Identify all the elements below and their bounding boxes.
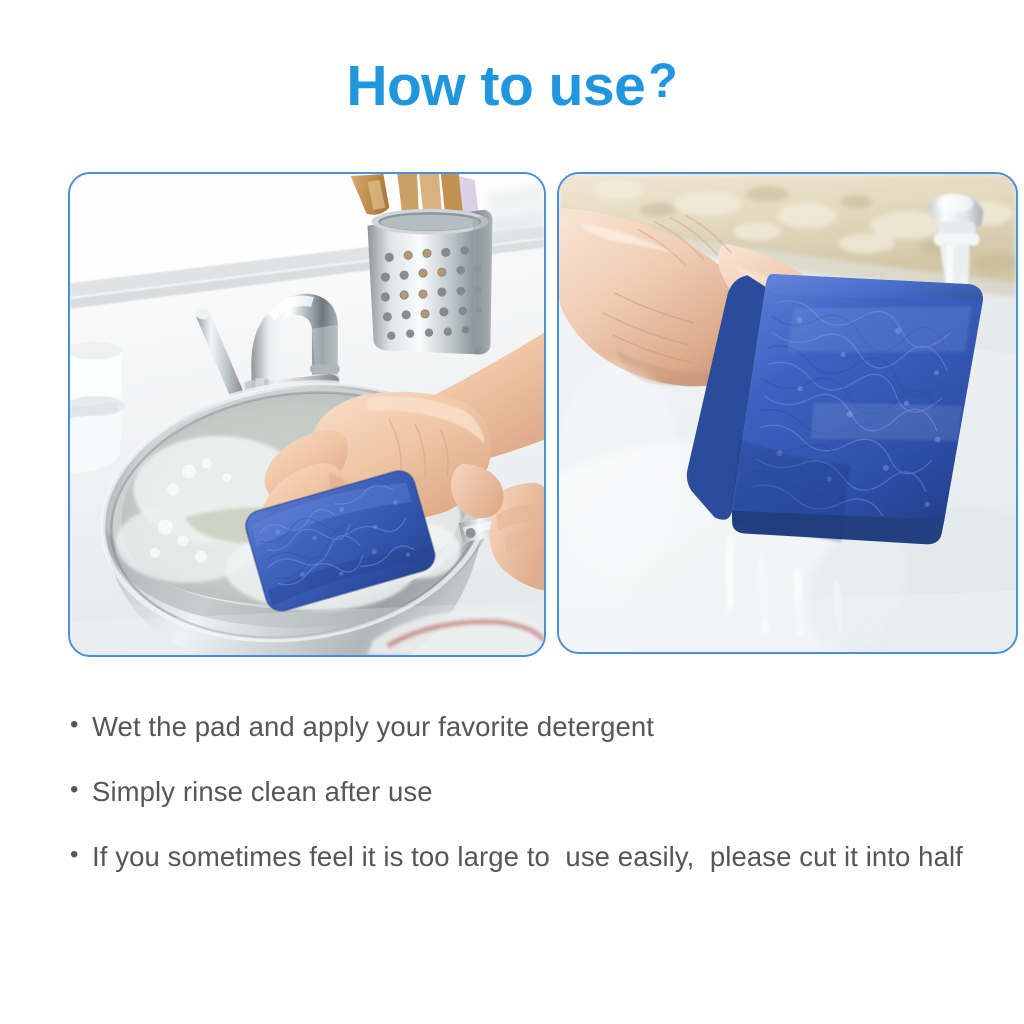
list-item-text: If you sometimes feel it is too large to… [92, 838, 1005, 876]
photo-illustration-rinsing-pad [559, 174, 1016, 652]
instructions-list: • Wet the pad and apply your favorite de… [70, 708, 1005, 903]
list-item: • Simply rinse clean after use [70, 773, 1005, 811]
photo-panel-rinsing-pad[interactable] [557, 172, 1018, 654]
page-title: How to use? [0, 58, 1024, 115]
list-item: • If you sometimes feel it is too large … [70, 838, 1005, 876]
bullet-dot-icon: • [70, 773, 92, 808]
bullet-dot-icon: • [70, 708, 92, 743]
page-title-question-mark: ? [648, 58, 677, 106]
page-title-text: How to use [346, 58, 645, 115]
page-root: How to use? [0, 0, 1024, 1024]
photo-panel-washing-pot[interactable] [68, 172, 546, 657]
list-item-text: Simply rinse clean after use [92, 773, 1005, 811]
bullet-dot-icon: • [70, 838, 92, 873]
list-item: • Wet the pad and apply your favorite de… [70, 708, 1005, 746]
list-item-text: Wet the pad and apply your favorite dete… [92, 708, 1005, 746]
photo-illustration-washing-pot [70, 174, 544, 655]
